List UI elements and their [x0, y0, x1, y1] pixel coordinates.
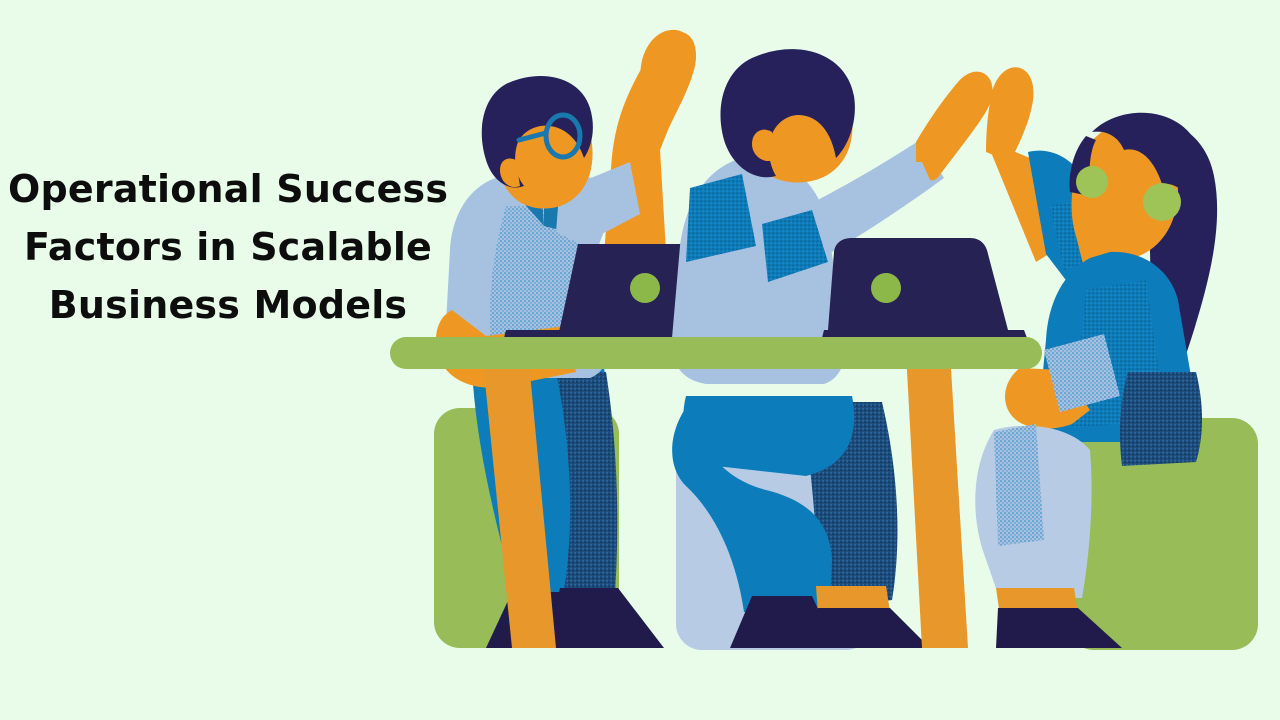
title-line-1: Operational Success [8, 160, 448, 218]
laptop-right-logo [871, 273, 901, 303]
table-leg-right [906, 352, 968, 648]
teamwork-illustration [0, 0, 1280, 720]
banner-canvas: Operational Success Factors in Scalable … [0, 0, 1280, 720]
earring-lower [1143, 183, 1181, 221]
laptop-right [820, 238, 1030, 346]
laptop-right-lid [828, 238, 1008, 330]
left-person-shoe-front [548, 588, 664, 648]
title-line-3: Business Models [8, 276, 448, 334]
page-title: Operational Success Factors in Scalable … [8, 160, 448, 334]
laptop-left-logo [630, 273, 660, 303]
center-person-shoe-front [812, 608, 930, 648]
table-top [390, 337, 1042, 369]
earring-upper [1076, 166, 1108, 198]
right-person-legs-texture [994, 424, 1044, 546]
title-line-2: Factors in Scalable [8, 218, 448, 276]
center-person-hand [916, 72, 993, 181]
right-person-skirt [1120, 372, 1202, 466]
